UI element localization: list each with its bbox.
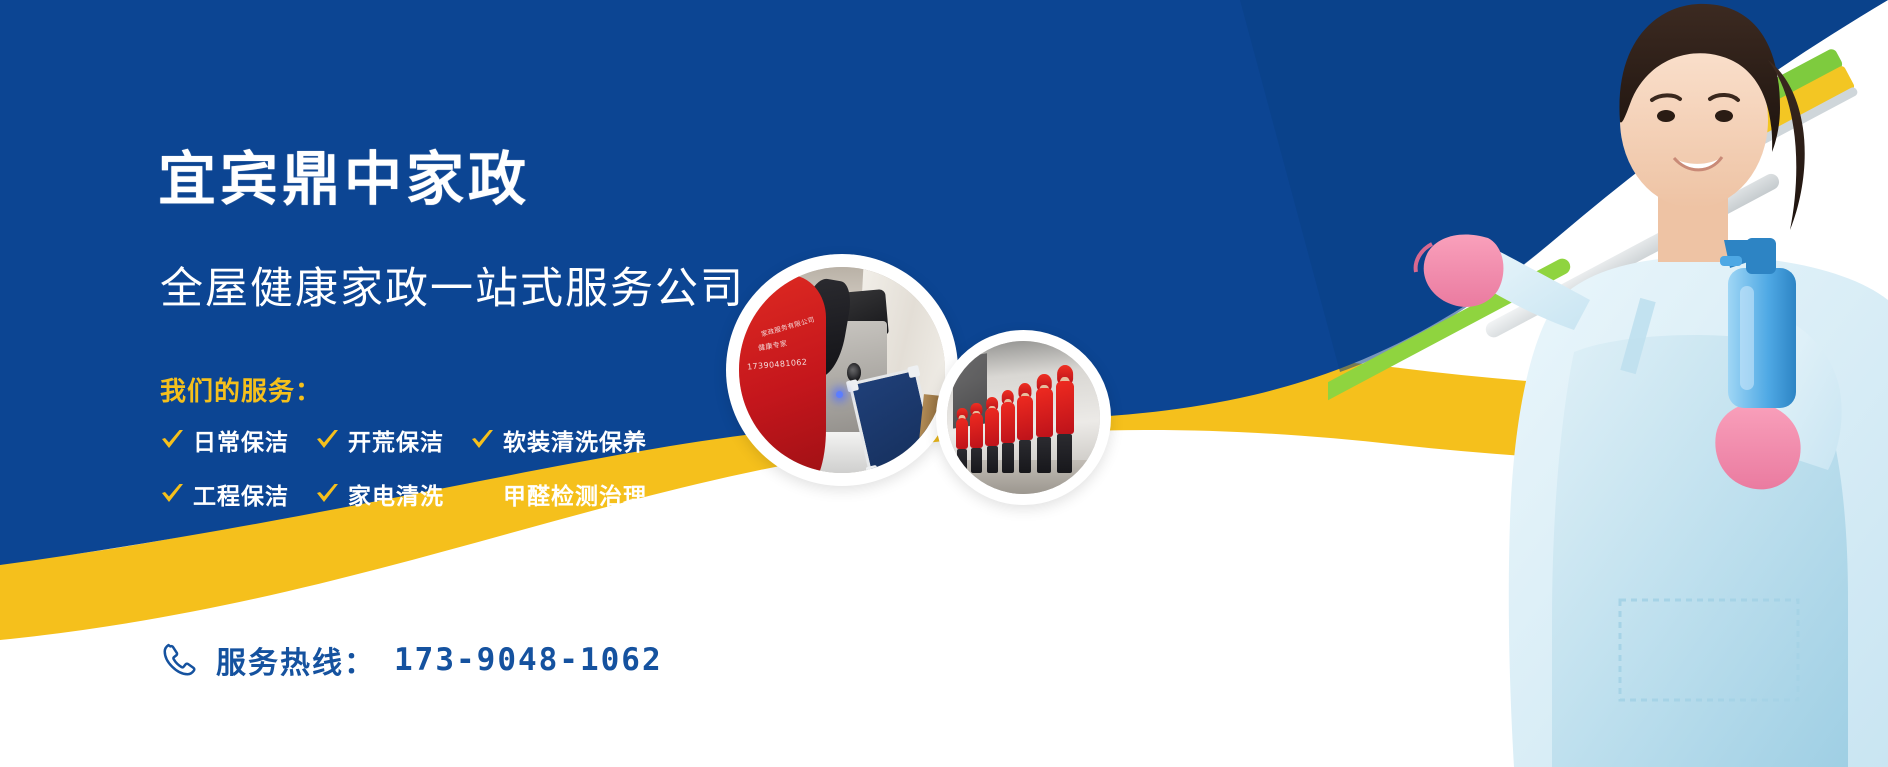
blue-field-shade [1240, 0, 1888, 372]
woman-right-arm [1715, 310, 1841, 489]
team-lineup-photo [936, 330, 1111, 505]
woman-face-details [1652, 95, 1738, 170]
woman-left-arm [1416, 234, 1590, 330]
pink-glove-right [1715, 403, 1800, 489]
service-item-label: 甲醛检测治理 [503, 477, 647, 511]
check-icon [160, 428, 184, 452]
woman-head [1620, 32, 1768, 208]
phone-icon [160, 641, 198, 679]
service-item-label: 软装清洗保养 [503, 423, 647, 457]
worker-appliance-photo: 家政服务有限公司 健康专家 17390481062 [726, 254, 958, 486]
hotline-label: 服务热线： [216, 638, 376, 682]
service-item-soft-furnishing-cleaning[interactable]: 软装清洗保养 [470, 423, 647, 457]
apron-pocket [1620, 600, 1798, 700]
hotline-number[interactable]: 173-9048-1062 [394, 642, 663, 678]
spray-bottle [1720, 238, 1796, 408]
service-item-label: 工程保洁 [193, 477, 289, 511]
services-list: 日常保洁 开荒保洁 软装清洗保养 [160, 413, 780, 521]
squeegee-tool [1328, 47, 1859, 420]
service-item-label: 家电清洗 [348, 477, 444, 511]
service-item-formaldehyde-treatment[interactable]: 甲醛检测治理 [470, 477, 647, 511]
services-row-2: 工程保洁 家电清洗 甲醛检测治理 [160, 467, 780, 521]
service-item-daily-cleaning[interactable]: 日常保洁 [160, 423, 289, 457]
check-icon [315, 428, 339, 452]
service-item-engineering-cleaning[interactable]: 工程保洁 [160, 477, 289, 511]
service-item-appliance-cleaning[interactable]: 家电清洗 [315, 477, 444, 511]
team-lineup-photo-image [947, 341, 1100, 494]
promo-banner: 家政服务有限公司 健康专家 17390481062 宜宾鼎中家政 [0, 0, 1888, 767]
woman-hair [1619, 4, 1780, 152]
check-icon [160, 482, 184, 506]
woman-apron [1552, 335, 1848, 767]
worker-appliance-photo-image: 家政服务有限公司 健康专家 17390481062 [739, 267, 945, 473]
check-icon [470, 428, 494, 452]
service-item-post-renovation-cleaning[interactable]: 开荒保洁 [315, 423, 444, 457]
woman-torso [1509, 256, 1888, 767]
woman-neck [1658, 170, 1728, 262]
service-item-label: 开荒保洁 [348, 423, 444, 457]
cleaner-woman-photo [1328, 0, 1888, 767]
services-label: 我们的服务： [160, 371, 322, 408]
check-icon [315, 482, 339, 506]
services-row-1: 日常保洁 开荒保洁 软装清洗保养 [160, 413, 780, 467]
service-hotline[interactable]: 服务热线： 173-9048-1062 [160, 638, 663, 682]
pink-glove-left [1424, 234, 1504, 306]
check-icon [470, 482, 494, 506]
page-subtitle: 全屋健康家政一站式服务公司 [160, 268, 745, 311]
service-item-label: 日常保洁 [193, 423, 289, 457]
page-title: 宜宾鼎中家政 [158, 150, 530, 208]
